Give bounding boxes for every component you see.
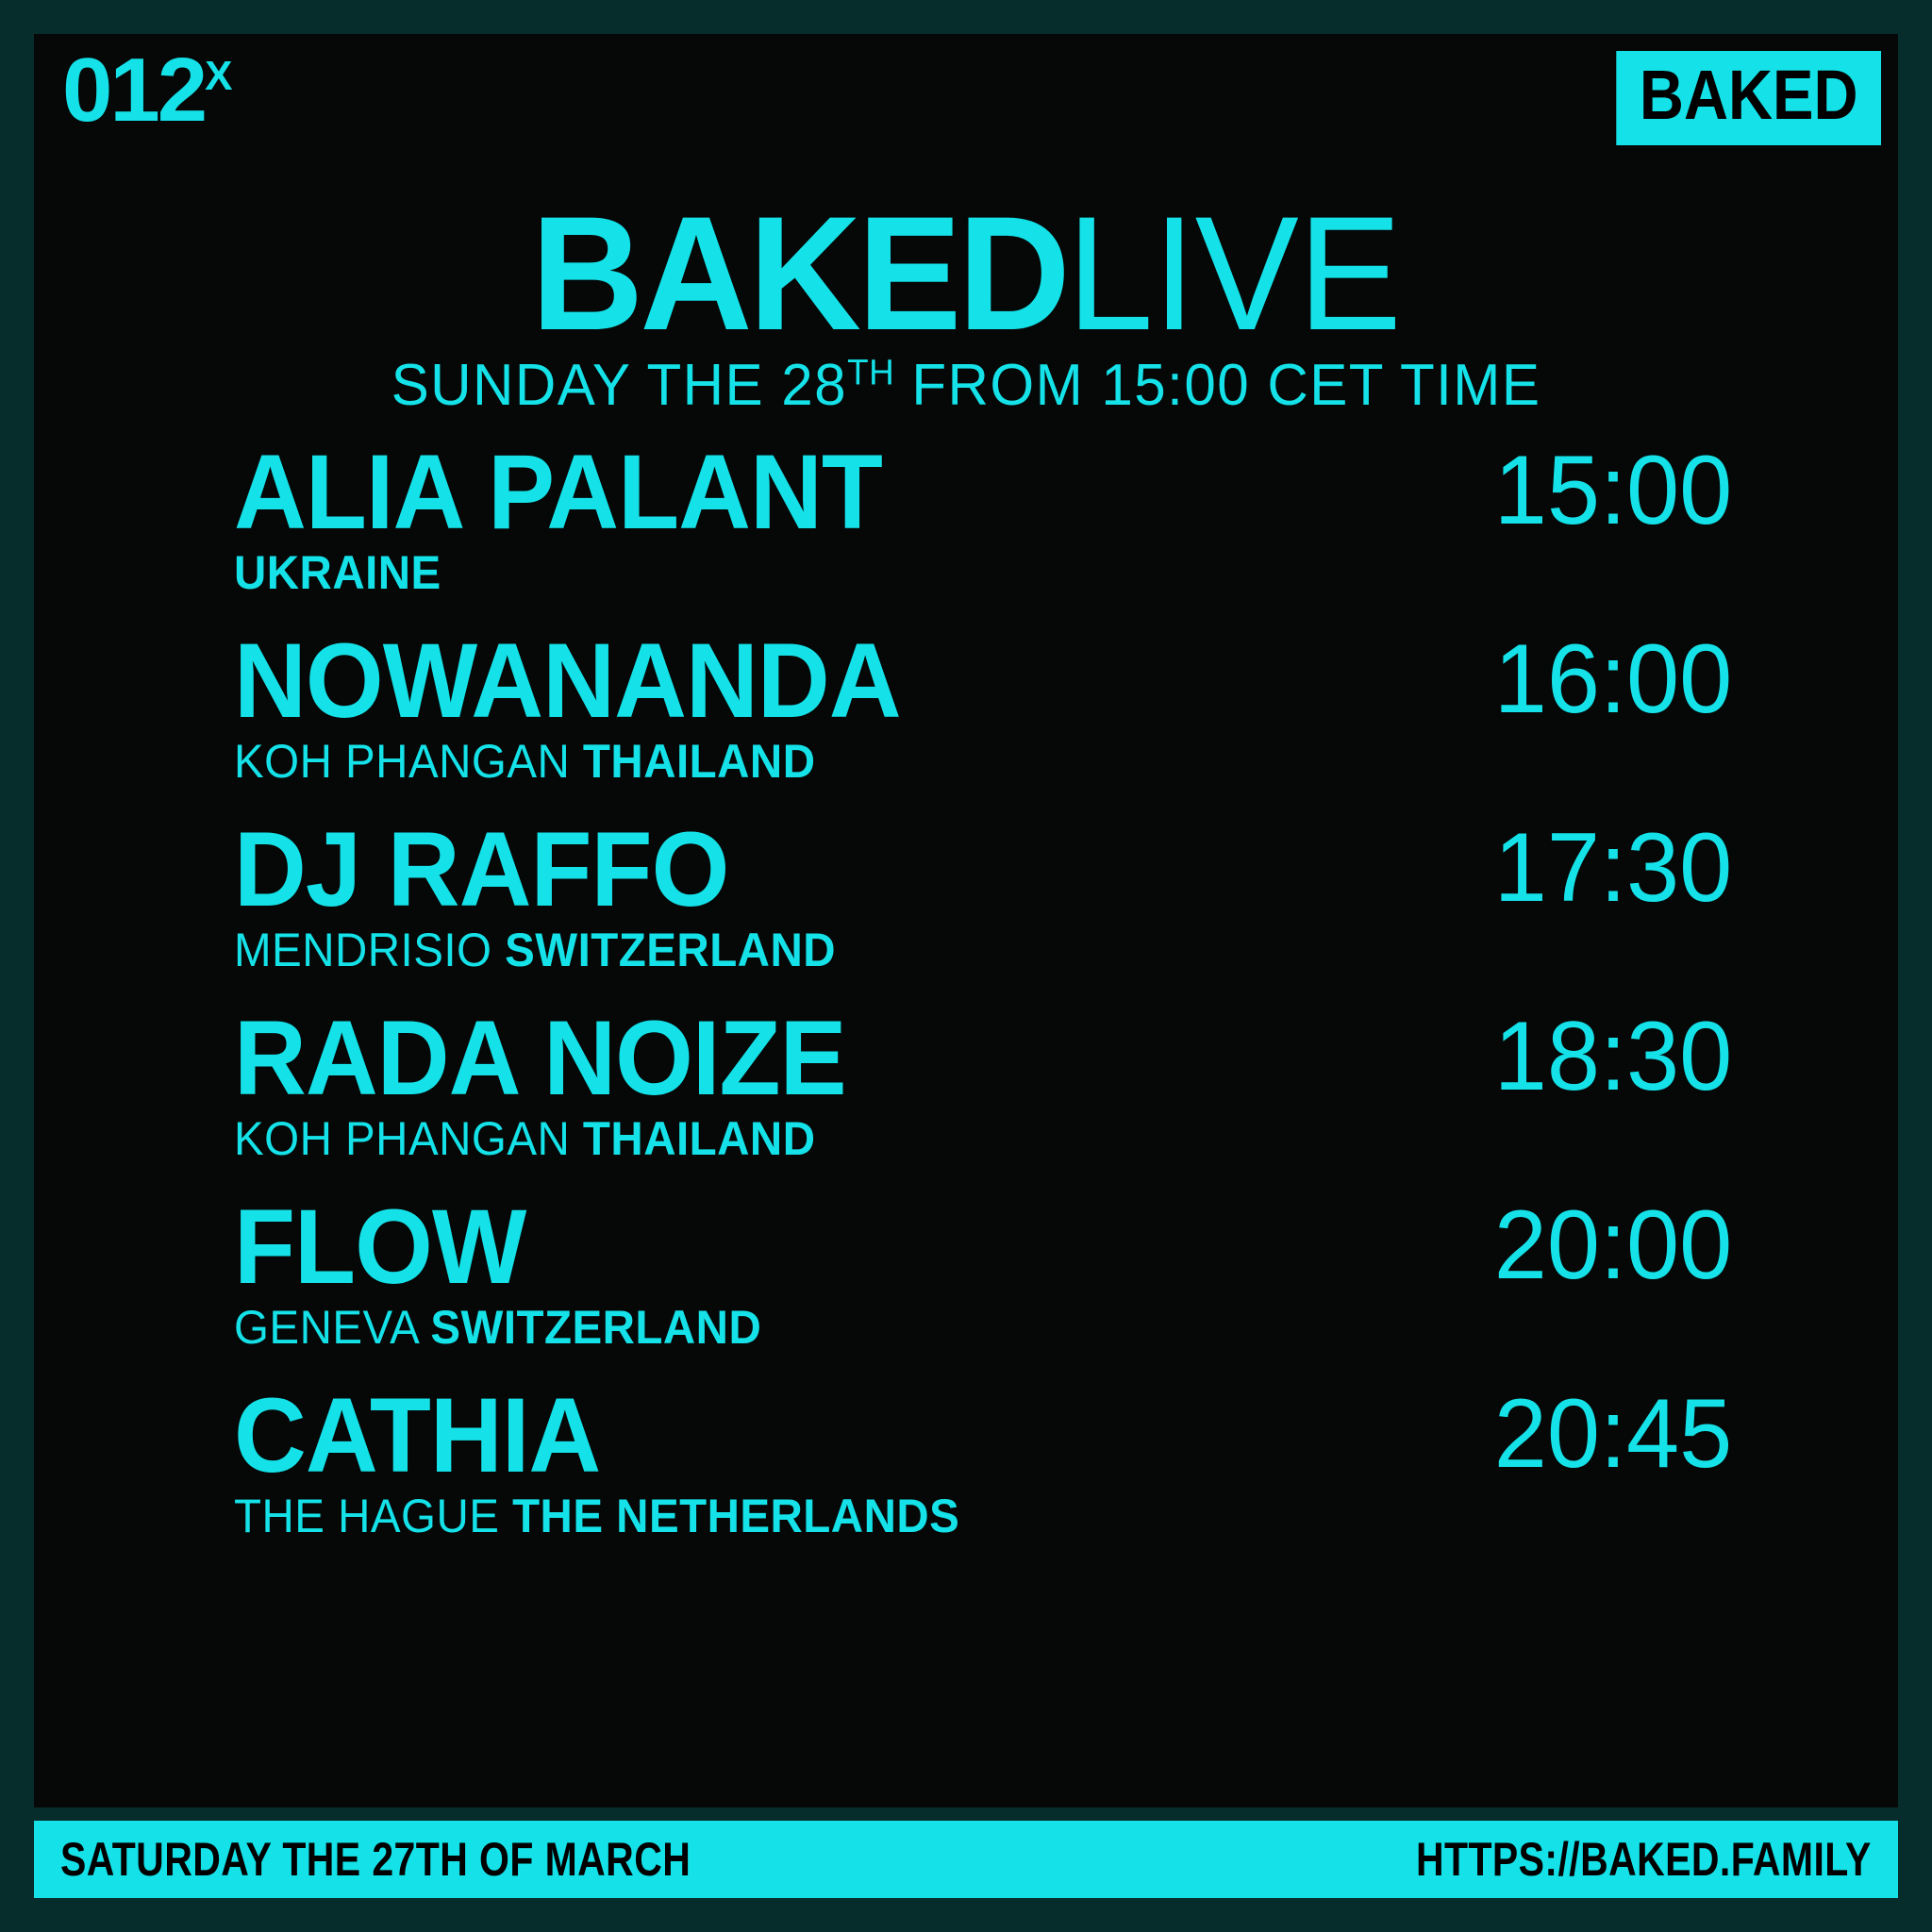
act-origin: MENDRISIO SWITZERLAND	[234, 926, 1657, 974]
act-main-row: DJ RAFFO 17:30	[234, 817, 1732, 923]
poster-canvas: 012X BAKED BAKEDLIVE SUNDAY THE 28TH FRO…	[34, 34, 1898, 1807]
act-country: THAILAND	[583, 1112, 816, 1165]
footer-bar: SATURDAY THE 27TH OF MARCH HTTPS://BAKED…	[34, 1821, 1898, 1898]
hero-title-bold: BAKED	[531, 183, 1067, 364]
act-time: 20:45	[1494, 1383, 1732, 1486]
act-time: 15:00	[1494, 440, 1732, 542]
act-country: UKRAINE	[234, 546, 441, 599]
act-main-row: ALIA PALANT 15:00	[234, 440, 1732, 545]
act-name: RADA NOIZE	[234, 1006, 846, 1111]
act-country: THAILAND	[583, 735, 816, 788]
baked-badge: BAKED	[1616, 51, 1881, 145]
list-item: CATHIA 20:45 THE HAGUE THE NETHERLANDS	[234, 1383, 1732, 1572]
act-country: SWITZERLAND	[430, 1301, 761, 1354]
brand-mark-012x: 012X	[62, 45, 233, 136]
list-item: FLOW 20:00 GENEVA SWITZERLAND	[234, 1194, 1732, 1383]
hero-subtitle-suffix: FROM 15:00 CET TIME	[894, 353, 1541, 418]
act-name: FLOW	[234, 1194, 525, 1300]
lineup-list: ALIA PALANT 15:00 UKRAINE NOWANANDA 16:0…	[234, 440, 1732, 1572]
act-main-row: FLOW 20:00	[234, 1194, 1732, 1300]
hero-subtitle-prefix: SUNDAY THE 28	[391, 353, 848, 418]
act-name: NOWANANDA	[234, 628, 901, 734]
list-item: DJ RAFFO 17:30 MENDRISIO SWITZERLAND	[234, 817, 1732, 1006]
act-time: 17:30	[1494, 817, 1732, 920]
act-origin: UKRAINE	[234, 549, 1657, 596]
act-time: 18:30	[1494, 1006, 1732, 1108]
act-time: 20:00	[1494, 1194, 1732, 1297]
act-name: CATHIA	[234, 1383, 600, 1489]
footer-url[interactable]: HTTPS://BAKED.FAMILY	[1416, 1836, 1872, 1883]
act-city: GENEVA	[234, 1301, 430, 1354]
act-origin: KOH PHANGAN THAILAND	[234, 1115, 1657, 1162]
hero-block: BAKEDLIVE SUNDAY THE 28TH FROM 15:00 CET…	[34, 199, 1898, 419]
act-city: KOH PHANGAN	[234, 1112, 583, 1165]
hero-subtitle-ordinal: TH	[847, 354, 894, 393]
act-city: KOH PHANGAN	[234, 735, 583, 788]
act-origin: THE HAGUE THE NETHERLANDS	[234, 1492, 1657, 1540]
act-country: SWITZERLAND	[505, 924, 836, 976]
list-item: RADA NOIZE 18:30 KOH PHANGAN THAILAND	[234, 1006, 1732, 1194]
act-name: DJ RAFFO	[234, 817, 728, 923]
act-country: THE NETHERLANDS	[512, 1490, 959, 1542]
act-main-row: RADA NOIZE 18:30	[234, 1006, 1732, 1111]
act-origin: GENEVA SWITZERLAND	[234, 1304, 1657, 1351]
act-city: THE HAGUE	[234, 1490, 512, 1542]
brand-mark-text: 012	[62, 40, 205, 141]
hero-title-light: LIVE	[1067, 183, 1401, 364]
act-main-row: NOWANANDA 16:00	[234, 628, 1732, 734]
event-poster: 012X BAKED BAKEDLIVE SUNDAY THE 28TH FRO…	[0, 0, 1932, 1932]
act-time: 16:00	[1494, 628, 1732, 731]
hero-subtitle: SUNDAY THE 28TH FROM 15:00 CET TIME	[62, 352, 1871, 419]
act-origin: KOH PHANGAN THAILAND	[234, 738, 1657, 785]
hero-title: BAKEDLIVE	[72, 199, 1861, 348]
brand-mark-superscript: X	[205, 53, 232, 99]
footer-date: SATURDAY THE 27TH OF MARCH	[60, 1836, 691, 1883]
list-item: ALIA PALANT 15:00 UKRAINE	[234, 440, 1732, 628]
list-item: NOWANANDA 16:00 KOH PHANGAN THAILAND	[234, 628, 1732, 817]
act-main-row: CATHIA 20:45	[234, 1383, 1732, 1489]
act-name: ALIA PALANT	[234, 440, 882, 545]
act-city: MENDRISIO	[234, 924, 505, 976]
